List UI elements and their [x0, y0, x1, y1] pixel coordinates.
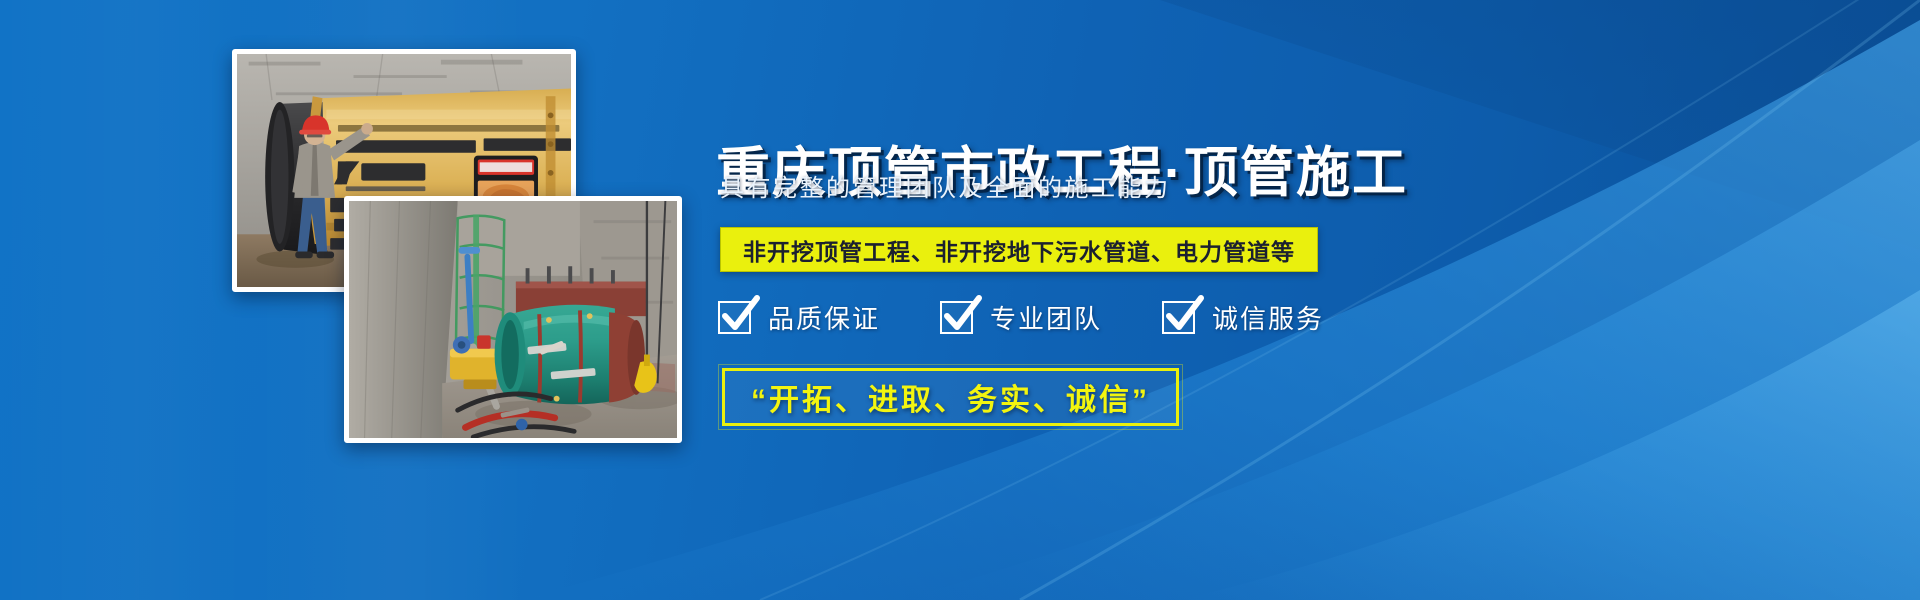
promo-banner: 重庆顶管市政工程·顶管施工 具有完整的管理团队及全面的施工能力 非开挖顶管工程、…	[0, 0, 1920, 600]
feature-item-team: 专业团队	[940, 298, 1102, 336]
checkbox-check-icon	[718, 298, 756, 336]
feature-list: 品质保证 专业团队 诚信服务	[718, 298, 1324, 336]
services-highlight-bar: 非开挖顶管工程、非开挖地下污水管道、电力管道等	[720, 227, 1318, 272]
slogan-text: “开拓、进取、务实、诚信”	[751, 375, 1150, 419]
checkbox-check-icon	[1162, 298, 1200, 336]
feature-item-integrity: 诚信服务	[1162, 298, 1324, 336]
feature-label: 专业团队	[990, 299, 1102, 336]
shaft-construction-photo	[344, 196, 682, 443]
photo-collage	[0, 0, 760, 600]
slogan-box: “开拓、进取、务实、诚信”	[722, 368, 1179, 426]
feature-label: 品质保证	[768, 299, 880, 336]
feature-label: 诚信服务	[1212, 299, 1324, 336]
feature-item-quality: 品质保证	[718, 298, 880, 336]
checkbox-check-icon	[940, 298, 978, 336]
subtitle: 具有完整的管理团队及全面的施工能力	[720, 168, 1171, 203]
banner-content: 重庆顶管市政工程·顶管施工 具有完整的管理团队及全面的施工能力 非开挖顶管工程、…	[716, 0, 1920, 600]
services-highlight-text: 非开挖顶管工程、非开挖地下污水管道、电力管道等	[743, 233, 1295, 267]
